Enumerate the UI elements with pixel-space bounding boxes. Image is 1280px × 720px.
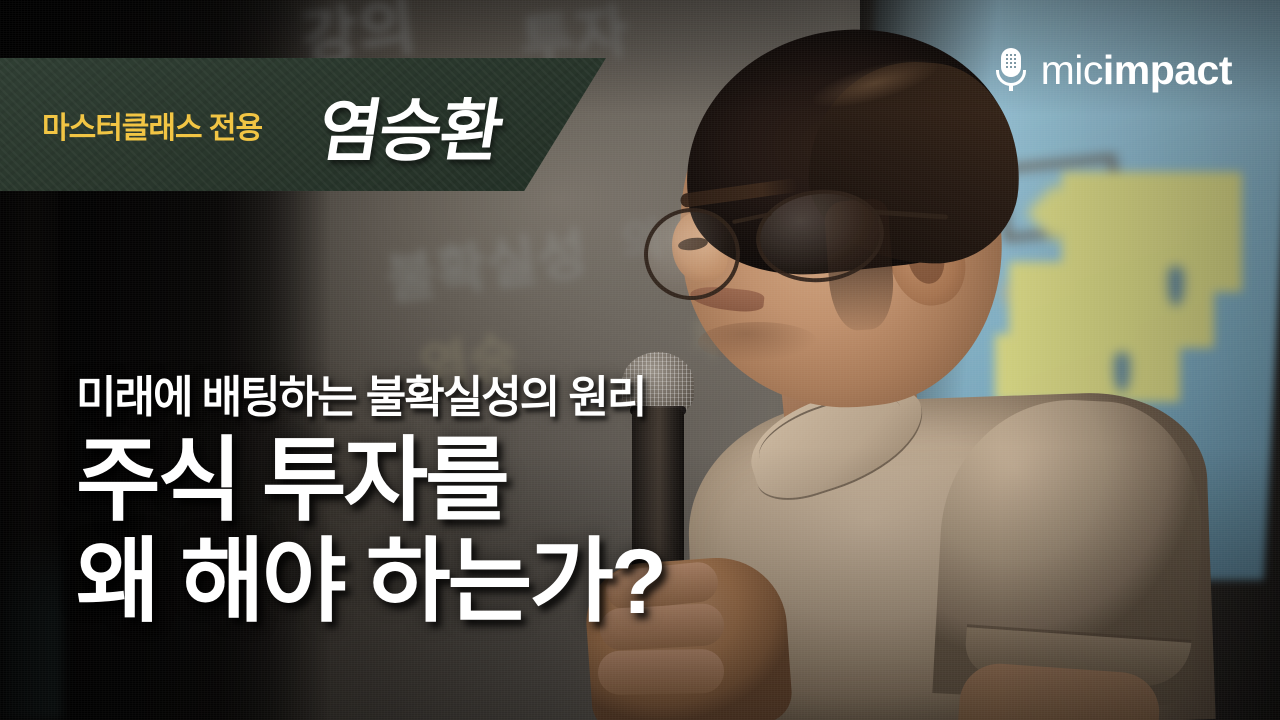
headline-line-1: 주식 투자를 [76,428,664,535]
speaker-finger-3 [598,649,725,695]
banner-kicker-label: 마스터클래스 전용 [42,103,262,147]
left-teal-glow [0,530,62,720]
speaker-banner: 마스터클래스 전용 염승환 [0,58,606,191]
speaker-figure [560,0,1280,720]
title-block: 미래에 배팅하는 불확실성의 원리 주식 투자를 왜 해야 하는가? [76,374,664,636]
brand-logo[interactable]: micimpact [994,48,1232,92]
speaker-name-label: 염승환 [312,75,509,174]
subtitle-text: 미래에 배팅하는 불확실성의 원리 [76,374,664,422]
brand-wordmark-bold: impact [1103,47,1232,93]
microphone-icon [994,48,1028,92]
title-card: 강의 투자 불확실성 의 미수 염승 투자 [0,0,1280,720]
brand-wordmark: micimpact [1041,50,1232,91]
brand-wordmark-light: mic [1041,47,1103,93]
speaker-chin-shadow [698,322,818,362]
headline-line-2: 왜 해야 하는가? [76,529,664,636]
microphone-grille-dots [1005,53,1017,70]
microphone-stem [1009,84,1013,91]
